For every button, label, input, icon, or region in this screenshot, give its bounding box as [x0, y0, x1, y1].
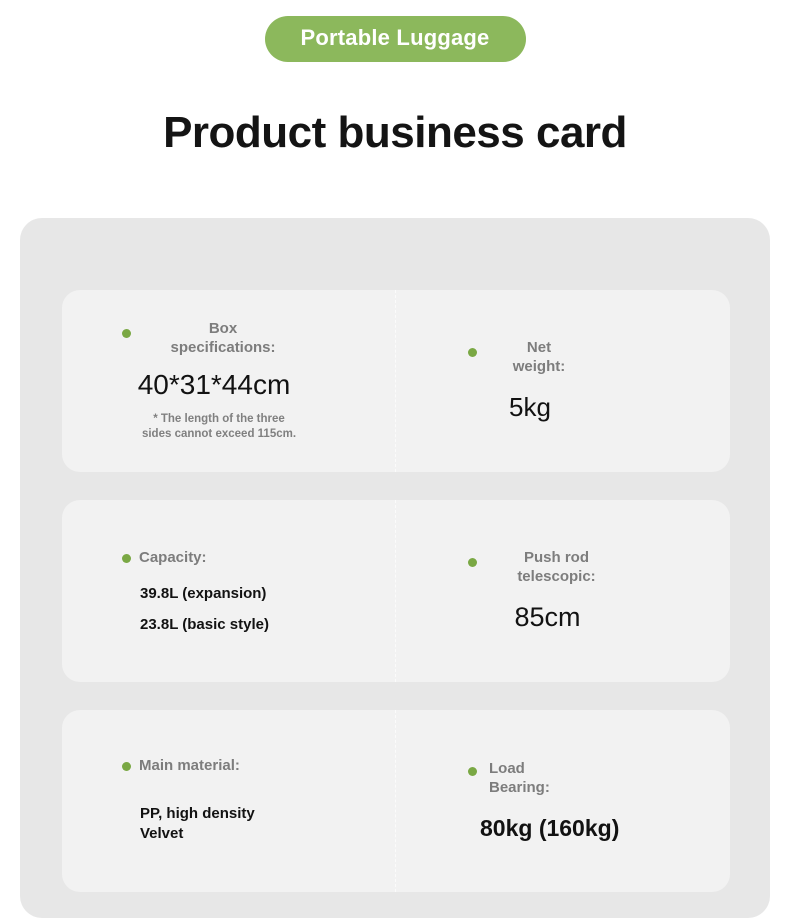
label-line-2: specifications: [170, 339, 275, 356]
spec-value-push-rod-telescopic: 85cm [480, 602, 615, 633]
label-line: Load Bearing: [468, 760, 730, 798]
spec-value-net-weight: 5kg [480, 392, 580, 423]
spec-label-box-specifications: Box specifications: [143, 320, 303, 358]
spec-value-load-bearing: 80kg (160kg) [480, 815, 730, 842]
product-category-badge: Portable Luggage [265, 16, 526, 62]
spec-value-capacity-basic: 23.8L (basic style) [140, 616, 395, 633]
label-line: Push rod telescopic: [468, 549, 730, 587]
label-line-2: Bearing: [489, 779, 550, 796]
label-line-1: Box [209, 320, 237, 337]
label-line: Capacity: [122, 549, 395, 568]
value-line-1: PP, high density [140, 805, 255, 822]
bullet-dot-icon [468, 767, 477, 776]
bullet-dot-icon [122, 554, 131, 563]
spec-cell-main-material: Main material: PP, high density Velvet [62, 710, 396, 892]
spec-label-load-bearing: Load Bearing: [489, 760, 550, 798]
label-line-2: weight: [513, 358, 566, 375]
label-line-1: Net [527, 339, 551, 356]
spec-card-row-2: Capacity: 39.8L (expansion) 23.8L (basic… [62, 500, 730, 682]
bullet-dot-icon [122, 329, 131, 338]
label-line-2: telescopic: [517, 568, 595, 585]
spec-label-capacity: Capacity: [139, 549, 207, 568]
header-badge-container: Portable Luggage [0, 16, 790, 62]
spec-value-capacity-expansion: 39.8L (expansion) [140, 585, 395, 602]
label-line-1: Load [489, 760, 525, 777]
value-line-2: Velvet [140, 825, 183, 842]
spec-value-box-specifications: 40*31*44cm [134, 369, 294, 401]
page-title: Product business card [0, 108, 790, 159]
spec-cell-load-bearing: Load Bearing: 80kg (160kg) [396, 710, 730, 892]
spec-value-main-material: PP, high density Velvet [140, 804, 395, 845]
spec-cell-push-rod-telescopic: Push rod telescopic: 85cm [396, 500, 730, 682]
label-line-1: Push rod [524, 549, 589, 566]
label-line: Box specifications: [122, 320, 395, 358]
bullet-dot-icon [468, 558, 477, 567]
spec-note-box-specifications: * The length of the three sides cannot e… [134, 412, 304, 442]
spec-card-row-3: Main material: PP, high density Velvet L… [62, 710, 730, 892]
bullet-dot-icon [468, 348, 477, 357]
label-line: Net weight: [468, 339, 730, 377]
spec-cell-capacity: Capacity: 39.8L (expansion) 23.8L (basic… [62, 500, 396, 682]
spec-label-push-rod-telescopic: Push rod telescopic: [489, 549, 624, 587]
spec-cell-box-specifications: Box specifications: 40*31*44cm * The len… [62, 290, 396, 472]
bullet-dot-icon [122, 762, 131, 771]
note-line-1: * The length of the three [153, 413, 285, 425]
spec-card-row-1: Box specifications: 40*31*44cm * The len… [62, 290, 730, 472]
note-line-2: sides cannot exceed 115cm. [142, 428, 296, 440]
spec-label-net-weight: Net weight: [489, 339, 589, 377]
spec-label-main-material: Main material: [139, 757, 240, 776]
label-line: Main material: [122, 757, 395, 776]
spec-cell-net-weight: Net weight: 5kg [396, 290, 730, 472]
